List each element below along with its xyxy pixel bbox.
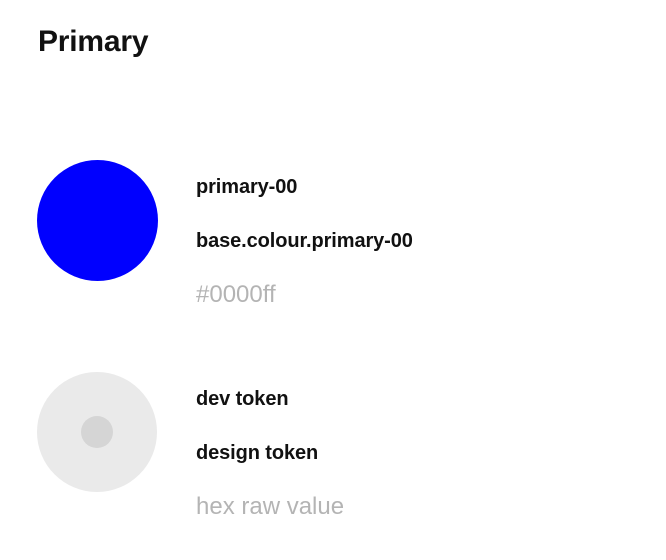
hex-value-label: #0000ff [196, 268, 666, 322]
legend-details: dev token design token hex raw value [196, 372, 666, 534]
swatch-preview-legend [0, 372, 196, 492]
placeholder-circle-icon [37, 372, 157, 492]
colour-circle-icon[interactable] [37, 160, 158, 281]
legend-design-token-label: design token [196, 426, 666, 480]
design-token-label: base.colour.primary-00 [196, 214, 666, 268]
placeholder-inner-dot-icon [81, 416, 113, 448]
colour-token-panel: Primary primary-00 base.colour.primary-0… [0, 0, 666, 560]
legend-dev-token-label: dev token [196, 372, 666, 426]
legend-hex-value-label: hex raw value [196, 480, 666, 534]
colour-token-row[interactable]: primary-00 base.colour.primary-00 #0000f… [0, 160, 666, 322]
legend-row: dev token design token hex raw value [0, 372, 666, 534]
dev-token-label: primary-00 [196, 160, 666, 214]
colour-token-details: primary-00 base.colour.primary-00 #0000f… [196, 160, 666, 322]
swatch-preview-primary-00[interactable] [0, 160, 196, 281]
page-title: Primary [38, 24, 148, 60]
